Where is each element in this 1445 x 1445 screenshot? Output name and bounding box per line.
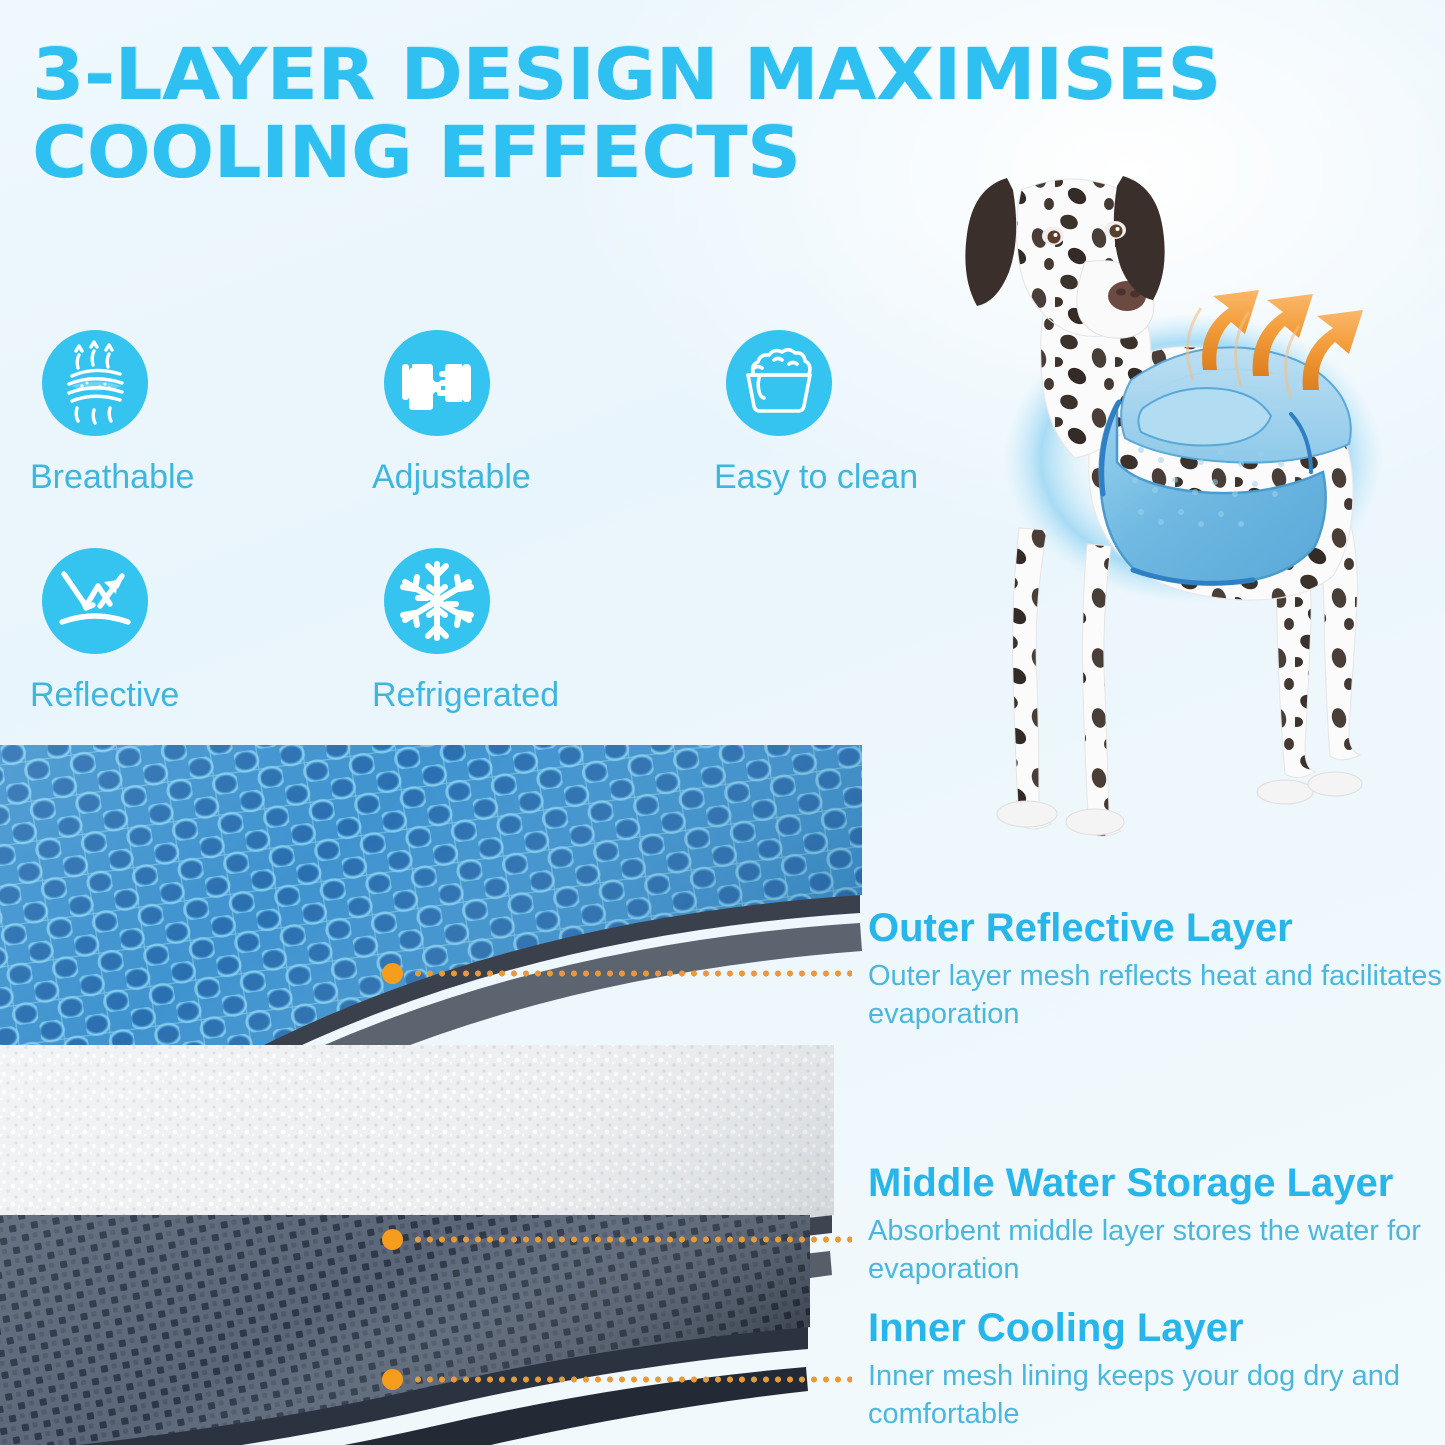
leader-dot-inner: [382, 1369, 403, 1390]
dalmatian-dog-wearing-cooling-vest: [935, 150, 1445, 870]
callout-middle-layer: Middle Water Storage Layer Absorbent mid…: [868, 1160, 1445, 1288]
feature-adjustable: Adjustable: [372, 330, 602, 497]
leader-dot-outer: [382, 963, 403, 984]
reflecting-arrows-icon: [42, 548, 148, 654]
callout-title-outer: Outer Reflective Layer: [868, 905, 1445, 951]
infographic-canvas: 3-LAYER DESIGN MAXIMISES COOLING EFFECTS: [0, 0, 1445, 1445]
feature-label-breathable: Breathable: [30, 458, 260, 497]
callout-outer-layer: Outer Reflective Layer Outer layer mesh …: [868, 905, 1445, 1033]
breathable-fabric-airflow-icon: [42, 330, 148, 436]
callout-desc-middle: Absorbent middle layer stores the water …: [868, 1212, 1445, 1288]
fabric-layer-stack: [0, 745, 900, 1445]
feature-label-refrigerated: Refrigerated: [372, 676, 602, 715]
feature-label-easy-to-clean: Easy to clean: [714, 458, 944, 497]
leader-line-middle: [382, 1228, 852, 1250]
callout-desc-outer: Outer layer mesh reflects heat and facil…: [868, 957, 1445, 1033]
leader-line-inner: [382, 1368, 852, 1390]
leader-dashes-outer: [412, 970, 852, 977]
feature-breathable: Breathable: [30, 330, 260, 497]
leader-dashes-middle: [412, 1236, 852, 1243]
leader-dashes-inner: [412, 1376, 852, 1383]
feature-label-adjustable: Adjustable: [372, 458, 602, 497]
wash-basin-suds-icon: [726, 330, 832, 436]
callout-desc-inner: Inner mesh lining keeps your dog dry and…: [868, 1357, 1445, 1433]
leader-line-outer: [382, 962, 852, 984]
snowflake-icon: [384, 548, 490, 654]
feature-reflective: Reflective: [30, 548, 260, 715]
title-line-1: 3-LAYER DESIGN MAXIMISES: [32, 36, 1209, 114]
callout-inner-layer: Inner Cooling Layer Inner mesh lining ke…: [868, 1305, 1445, 1433]
product-photo: [935, 150, 1445, 870]
callout-title-middle: Middle Water Storage Layer: [868, 1160, 1445, 1206]
callout-title-inner: Inner Cooling Layer: [868, 1305, 1445, 1351]
buckle-icon: [384, 330, 490, 436]
leader-dot-middle: [382, 1229, 403, 1250]
feature-easy-to-clean: Easy to clean: [714, 330, 944, 497]
feature-refrigerated: Refrigerated: [372, 548, 602, 715]
feature-label-reflective: Reflective: [30, 676, 260, 715]
